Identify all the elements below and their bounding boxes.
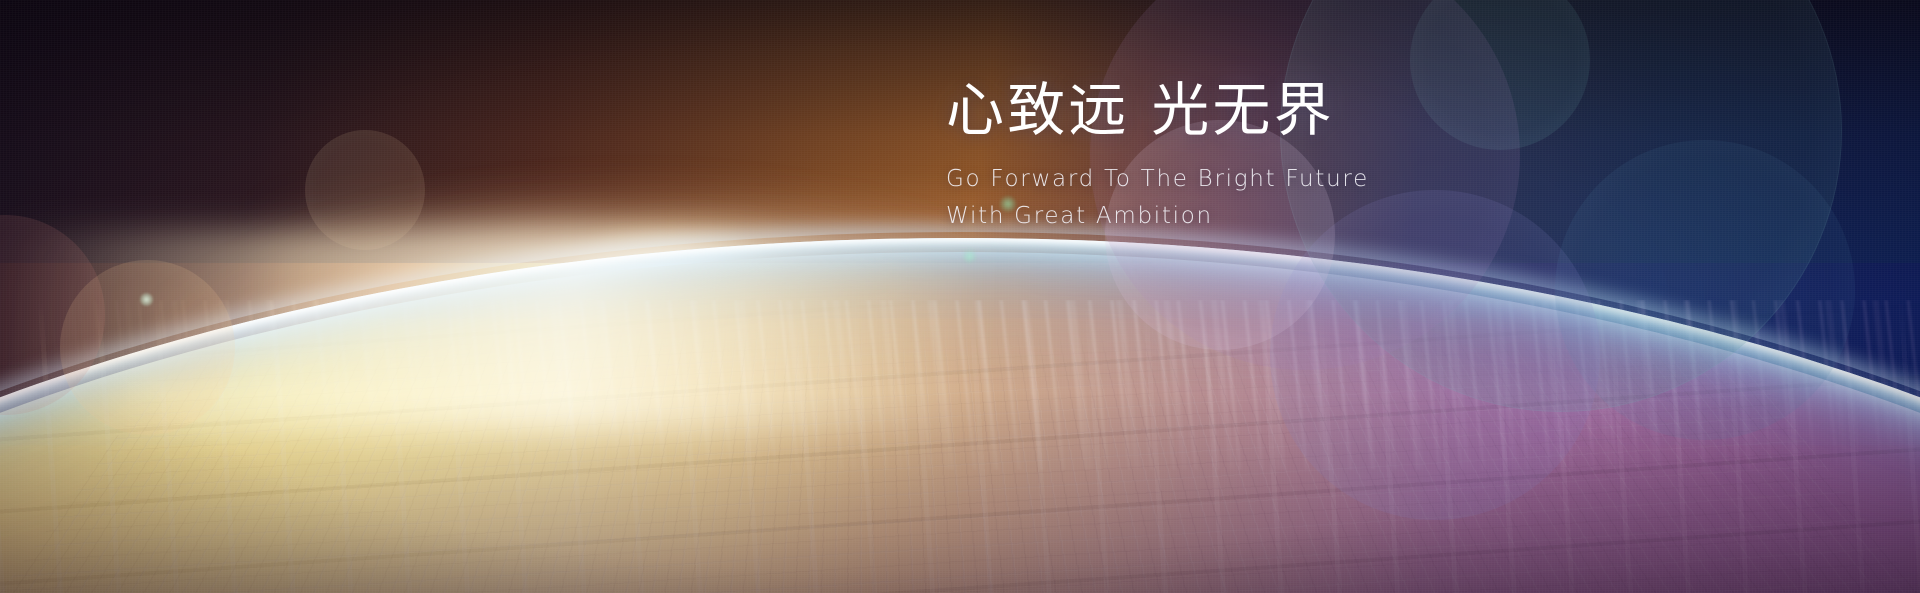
banner-copy-block: 心致远 光无界 Go Forward To The Bright Future … <box>946 78 1686 232</box>
banner-subtitle-line-1: Go Forward To The Bright Future <box>946 164 1686 194</box>
banner-subtitle-line-2: With Great Ambition <box>946 201 1686 231</box>
hero-banner: 心致远 光无界 Go Forward To The Bright Future … <box>0 0 1920 593</box>
atmosphere-warm-tint <box>0 230 980 430</box>
banner-headline: 心致远 光无界 <box>946 78 1686 143</box>
